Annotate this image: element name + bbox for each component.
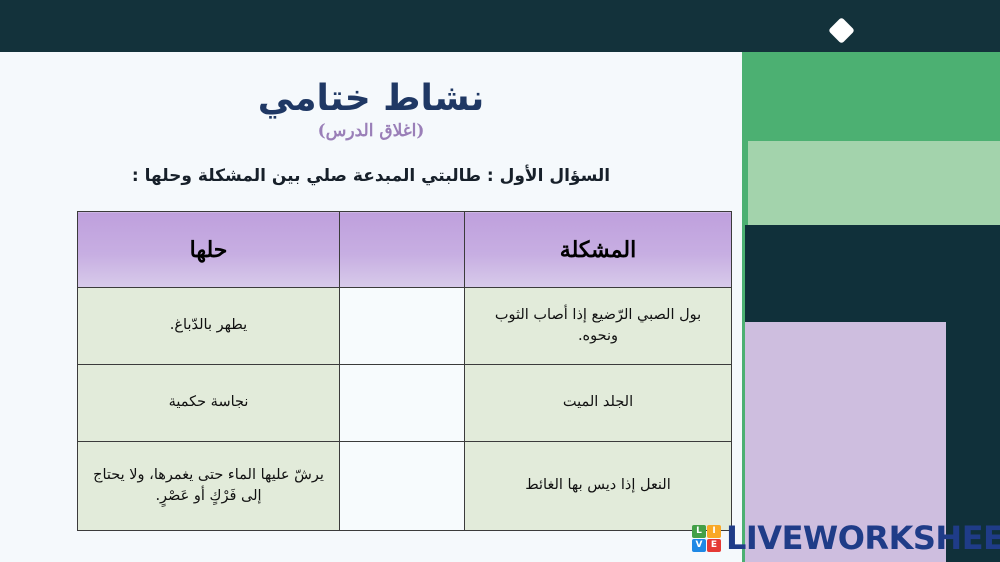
question-prompt: السؤال الأول : طالبتي المبدعة صلي بين ال… (0, 166, 742, 186)
cell-gap-1[interactable] (340, 288, 465, 365)
liveworksheets-mark-icon: L I V E (692, 525, 721, 552)
diamond-icon (828, 17, 855, 44)
cell-problem-1[interactable]: بول الصبي الرّضيع إذا أصاب الثوب ونحوه. (465, 288, 732, 365)
table-row: النعل إذا ديس بها الغائط يرشّ عليها الما… (78, 442, 732, 531)
page-subtitle: (اغلاق الدرس) (0, 121, 742, 141)
column-header-problem: المشكلة (465, 212, 732, 288)
title-block: نشاط ختامي (اغلاق الدرس) (0, 78, 742, 141)
table-row: بول الصبي الرّضيع إذا أصاب الثوب ونحوه. … (78, 288, 732, 365)
column-header-answer: حلها (78, 212, 340, 288)
cell-problem-3[interactable]: النعل إذا ديس بها الغائط (465, 442, 732, 531)
matching-table: المشكلة حلها بول الصبي الرّضيع إذا أصاب … (77, 211, 732, 531)
page-title: نشاط ختامي (0, 78, 742, 119)
cell-gap-3[interactable] (340, 442, 465, 531)
logo-square-e: E (707, 539, 721, 552)
table-header-row: المشكلة حلها (78, 212, 732, 288)
logo-square-l: L (692, 525, 706, 538)
table-header: المشكلة حلها (78, 212, 732, 288)
cell-answer-2[interactable]: نجاسة حكمية (78, 365, 340, 442)
liveworksheets-logo: L I V E LIVEWORKSHEETS (692, 519, 1000, 557)
top-bar (0, 0, 1000, 52)
logo-square-i: I (707, 525, 721, 538)
cell-answer-1[interactable]: يطهر بالدّباغ. (78, 288, 340, 365)
slide-canvas: نشاط ختامي (اغلاق الدرس) السؤال الأول : … (0, 0, 1000, 562)
cell-answer-3[interactable]: يرشّ عليها الماء حتى يغمرها، ولا يحتاج إ… (78, 442, 340, 531)
column-header-gap (340, 212, 465, 288)
table-body: بول الصبي الرّضيع إذا أصاب الثوب ونحوه. … (78, 288, 732, 531)
liveworksheets-wordmark: LIVEWORKSHEETS (726, 519, 1000, 557)
table-row: الجلد الميت نجاسة حكمية (78, 365, 732, 442)
cell-problem-2[interactable]: الجلد الميت (465, 365, 732, 442)
cell-gap-2[interactable] (340, 365, 465, 442)
logo-square-v: V (692, 539, 706, 552)
